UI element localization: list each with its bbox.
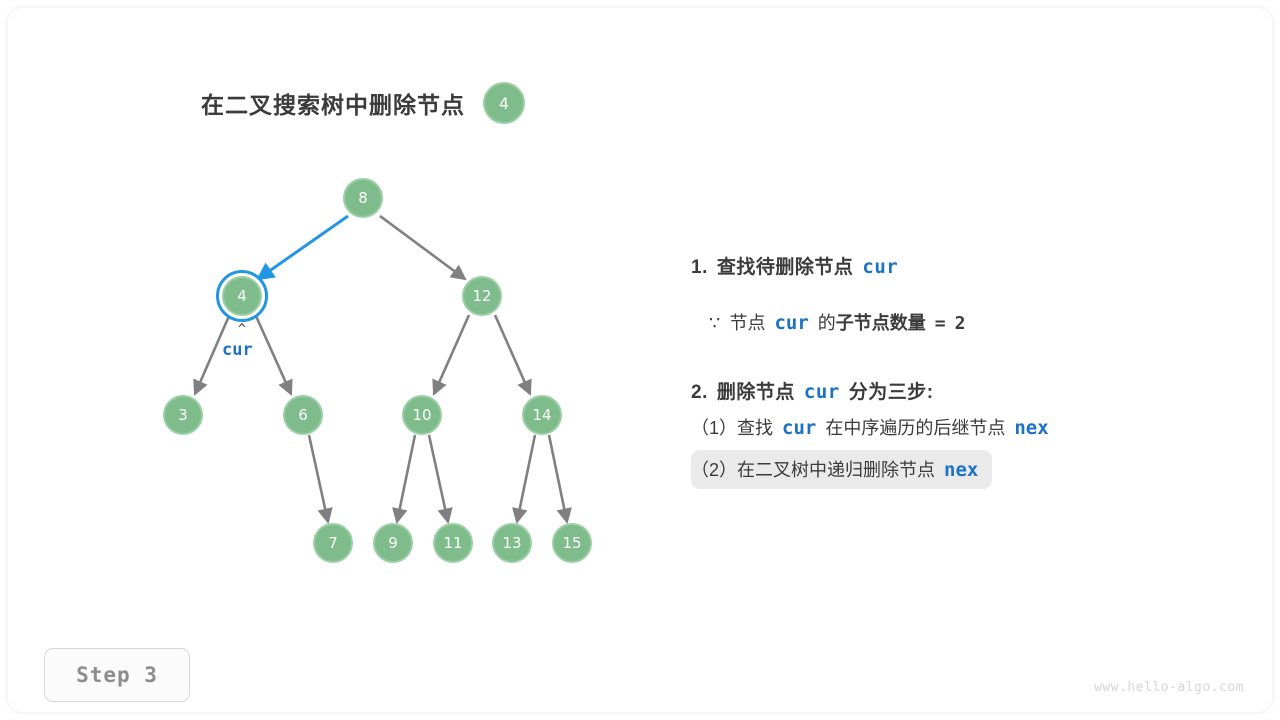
step2-suffix: 分为三步: <box>849 377 934 404</box>
tree-node-15: 15 <box>552 523 592 563</box>
edge-14-15 <box>549 435 567 522</box>
substep-2-var-nex: nex <box>944 459 978 481</box>
edge-8-4-highlighted <box>258 216 348 279</box>
tree-node-3: 3 <box>163 395 203 435</box>
watermark: www.hello-algo.com <box>1094 680 1244 695</box>
step2-var-cur: cur <box>804 381 840 403</box>
substep-1-middle: 在中序遍历的后继节点 <box>825 414 1005 440</box>
cur-pointer-caret: ^ <box>238 322 246 337</box>
step1-line: 1. 查找待删除节点 cur <box>691 252 1251 279</box>
substep-1-prefix: 查找 <box>737 414 773 440</box>
reason-middle: 的 <box>818 309 836 335</box>
tree-node-10: 10 <box>402 395 442 435</box>
tree-node-12: 12 <box>462 276 502 316</box>
tree-node-6: 6 <box>283 395 323 435</box>
step1-text: 查找待删除节点 <box>717 252 854 279</box>
edge-10-11 <box>429 435 448 522</box>
tree-node-8: 8 <box>343 178 383 218</box>
screenshot-canvas: 在二叉搜索树中删除节点 4 <box>0 0 1280 720</box>
reason-emphasis: 子节点数量 <box>836 309 926 335</box>
tree-node-4: 4 <box>222 276 262 316</box>
tree-node-9: 9 <box>373 523 413 563</box>
edge-12-10 <box>434 315 469 394</box>
edge-14-13 <box>517 435 535 522</box>
edge-10-9 <box>397 435 415 522</box>
tree-node-14: 14 <box>522 395 562 435</box>
step2-number: 2. <box>691 382 708 404</box>
substep-1-index: （1） <box>691 414 737 440</box>
substep-2-line: （2） 在二叉树中递归删除节点 nex <box>691 450 992 489</box>
edge-6-7 <box>309 435 328 522</box>
substep-1-var-nex: nex <box>1014 417 1048 439</box>
substep-1-var-cur: cur <box>782 417 816 439</box>
because-symbol: ∵ <box>709 313 720 334</box>
reason-prefix: 节点 <box>729 309 765 335</box>
step2-prefix: 删除节点 <box>717 377 795 404</box>
reason-line: ∵ 节点 cur 的 子节点数量 = 2 <box>709 309 1251 335</box>
step2-line: 2. 删除节点 cur 分为三步: <box>691 377 1251 404</box>
step1-number: 1. <box>691 257 708 279</box>
cur-pointer-label: cur <box>222 340 253 360</box>
substep-2-text: 在二叉树中递归删除节点 <box>737 456 935 482</box>
reason-equals: = <box>935 313 946 334</box>
substep-2-index: （2） <box>691 456 737 482</box>
reason-count: 2 <box>955 313 966 334</box>
edge-8-12 <box>380 216 465 279</box>
reason-var-cur: cur <box>774 312 808 334</box>
explanation-panel: 1. 查找待删除节点 cur ∵ 节点 cur 的 子节点数量 = 2 <box>691 252 1251 489</box>
substep-1-line: （1） 查找 cur 在中序遍历的后继节点 nex <box>691 414 1251 440</box>
step1-var-cur: cur <box>862 256 898 278</box>
step-badge: Step 3 <box>44 648 190 702</box>
slide-card: 在二叉搜索树中删除节点 4 <box>8 8 1272 712</box>
tree-node-11: 11 <box>433 523 473 563</box>
edge-4-6 <box>256 316 291 394</box>
tree-node-13: 13 <box>492 523 532 563</box>
edge-12-14 <box>495 315 530 394</box>
tree-node-7: 7 <box>313 523 353 563</box>
